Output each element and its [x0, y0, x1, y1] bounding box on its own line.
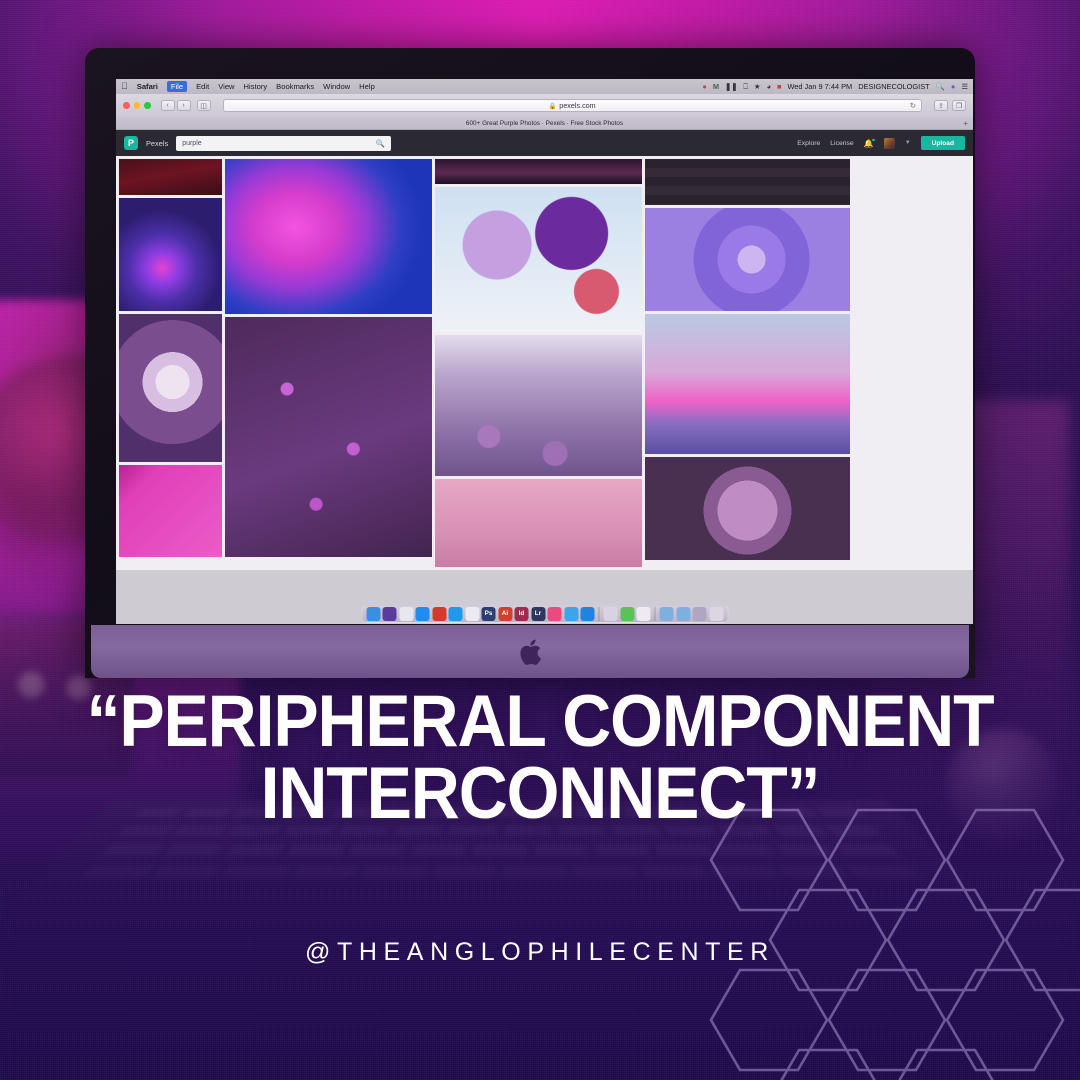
photo-column	[435, 159, 642, 567]
headline-line-1: “PERIPHERAL COMPONENT	[38, 686, 1042, 758]
menu-item-file[interactable]: File	[167, 81, 187, 92]
photo-thumbnail-water-drop-ripple[interactable]	[645, 208, 850, 311]
siri-icon[interactable]: ●	[951, 82, 955, 91]
pexels-brand-label[interactable]: Pexels	[146, 139, 168, 148]
dock-separator	[599, 607, 600, 621]
address-bar[interactable]: 🔒 pexels.com ↻	[223, 99, 923, 112]
menu-item-safari[interactable]: Safari	[137, 82, 158, 91]
back-button[interactable]: ‹	[161, 100, 175, 111]
navigation-buttons[interactable]: ‹ ›	[161, 100, 191, 111]
imac-computer:  Safari File Edit View History Bookmark…	[85, 48, 975, 678]
dock-item-creative-cloud[interactable]	[432, 607, 446, 621]
social-handle: @THEANGLOPHILECENTER	[0, 938, 1080, 967]
zoom-button[interactable]	[144, 102, 151, 109]
bell-icon[interactable]: 🔔	[864, 139, 874, 148]
active-tab-title[interactable]: 600+ Great Purple Photos · Pexels · Free…	[466, 120, 623, 127]
photo-thumbnail-dark-wood-planks[interactable]	[645, 159, 850, 205]
macos-dock[interactable]: PsAiIdLr	[361, 605, 728, 623]
minimize-button[interactable]	[134, 102, 141, 109]
dock-item-mail[interactable]	[564, 607, 578, 621]
dock-item-safari[interactable]	[449, 607, 463, 621]
photo-column	[645, 159, 850, 567]
photo-thumbnail-fiber-optic-lamp[interactable]	[119, 198, 222, 311]
dock-item-trash[interactable]	[709, 607, 723, 621]
photo-thumbnail-white-purple-daisy[interactable]	[119, 314, 222, 462]
photo-thumbnail-night-festival-lights[interactable]	[435, 159, 642, 184]
dock-item-stacks[interactable]	[604, 607, 618, 621]
dock-item-dropbox[interactable]	[581, 607, 595, 621]
menu-item-edit[interactable]: Edit	[196, 82, 209, 91]
monitor-chin	[91, 625, 969, 678]
share-icon[interactable]: ⇪	[934, 100, 948, 111]
sidebar-toggle-icon[interactable]: ◫	[197, 100, 211, 111]
dock-item-siri[interactable]	[383, 607, 397, 621]
avatar[interactable]	[884, 138, 895, 149]
dropbox-status-icon[interactable]: ●	[702, 82, 706, 91]
flag-status-icon[interactable]: ■	[777, 82, 781, 91]
pause-status-icon[interactable]: ❚❚	[725, 82, 737, 91]
notification-center-icon[interactable]: ☰	[961, 82, 968, 91]
dock-item-launchpad[interactable]	[399, 607, 413, 621]
photo-column	[225, 159, 432, 567]
menu-item-window[interactable]: Window	[323, 82, 350, 91]
tabs-icon[interactable]: ❐	[952, 100, 966, 111]
grammarly-status-icon[interactable]: M	[713, 82, 719, 91]
dock-item-documents-folder[interactable]	[676, 607, 690, 621]
photo-thumbnail-pink-fabric-texture[interactable]	[119, 465, 222, 557]
chevron-down-icon[interactable]: ▼	[905, 140, 911, 146]
bluetooth-status-icon[interactable]: ★	[754, 82, 761, 91]
spotlight-search-icon[interactable]: 🔍	[936, 82, 945, 91]
imac-screen:  Safari File Edit View History Bookmark…	[116, 79, 973, 624]
pexels-search-input[interactable]: purple 🔍	[176, 136, 391, 151]
photo-thumbnail-lavender-chive-field[interactable]	[435, 335, 642, 476]
dock-item-illustrator[interactable]: Ai	[498, 607, 512, 621]
window-traffic-lights[interactable]	[123, 102, 151, 109]
pexels-header: P Pexels purple 🔍 Explore License 🔔 ▼ Up…	[116, 130, 973, 156]
poster-canvas:  Safari File Edit View History Bookmark…	[0, 0, 1080, 1080]
dock-item-indesign[interactable]: Id	[515, 607, 529, 621]
dock-item-finder[interactable]	[366, 607, 380, 621]
menubar-clock[interactable]: Wed Jan 9 7:44 PM	[787, 82, 852, 91]
nav-link-license[interactable]: License	[830, 140, 853, 147]
apple-menu-icon[interactable]: 	[121, 82, 128, 91]
photo-thumbnail-pink-house-window[interactable]	[435, 479, 642, 567]
menu-item-history[interactable]: History	[244, 82, 268, 91]
dock-item-preview[interactable]	[465, 607, 479, 621]
dock-item-photoshop[interactable]: Ps	[482, 607, 496, 621]
pexels-logo-icon[interactable]: P	[124, 136, 138, 150]
photo-thumbnail-purple-chrysanthemum[interactable]	[645, 457, 850, 560]
dock-item-itunes[interactable]	[548, 607, 562, 621]
menu-item-view[interactable]: View	[218, 82, 234, 91]
dock-item-lightroom[interactable]: Lr	[531, 607, 545, 621]
lock-icon: 🔒	[549, 102, 557, 110]
reload-icon[interactable]: ↻	[910, 101, 916, 110]
upload-button[interactable]: Upload	[921, 136, 965, 150]
photo-thumbnail-dark-red-lights[interactable]	[119, 159, 222, 195]
dock-item-app-store[interactable]	[416, 607, 430, 621]
dock-item-fonts-folder[interactable]	[693, 607, 707, 621]
search-input-value: purple	[182, 140, 201, 147]
photo-thumbnail-purple-phlox-flowers[interactable]	[225, 317, 432, 557]
photo-thumbnail-birds-at-pink-sunset[interactable]	[645, 314, 850, 454]
dock-item-downloads[interactable]	[637, 607, 651, 621]
menubar-user[interactable]: DESIGNECOLOGIST	[858, 82, 929, 91]
search-icon[interactable]: 🔍	[376, 139, 385, 148]
dock-item-screenshots[interactable]	[620, 607, 634, 621]
address-bar-url: pexels.com	[559, 101, 595, 110]
forward-button[interactable]: ›	[177, 100, 191, 111]
macos-menu-bar:  Safari File Edit View History Bookmark…	[116, 79, 973, 94]
headline-line-2: INTERCONNECT”	[38, 758, 1042, 830]
menu-item-bookmarks[interactable]: Bookmarks	[276, 82, 314, 91]
wifi-status-icon[interactable]: ◕	[767, 82, 771, 91]
photo-grid	[119, 159, 970, 567]
close-button[interactable]	[123, 102, 130, 109]
page-title: “PERIPHERAL COMPONENT INTERCONNECT”	[38, 686, 1042, 829]
dock-item-pictures-folder[interactable]	[660, 607, 674, 621]
nav-link-explore[interactable]: Explore	[797, 140, 820, 147]
photo-column	[119, 159, 222, 567]
photo-thumbnail-purple-balloons[interactable]	[435, 187, 642, 332]
apple-logo-icon	[517, 637, 543, 673]
safari-toolbar: ‹ › ◫ 🔒 pexels.com ↻ ⇪ ❐	[116, 94, 973, 117]
photo-thumbnail-pink-blue-ink-cloud[interactable]	[225, 159, 432, 314]
menu-item-help[interactable]: Help	[359, 82, 375, 91]
dock-separator	[655, 607, 656, 621]
new-tab-button[interactable]: +	[963, 119, 968, 128]
safari-tab-bar[interactable]: 600+ Great Purple Photos · Pexels · Free…	[116, 117, 973, 130]
display-status-icon[interactable]: ⎕	[743, 82, 747, 92]
pexels-photo-results	[116, 156, 973, 570]
